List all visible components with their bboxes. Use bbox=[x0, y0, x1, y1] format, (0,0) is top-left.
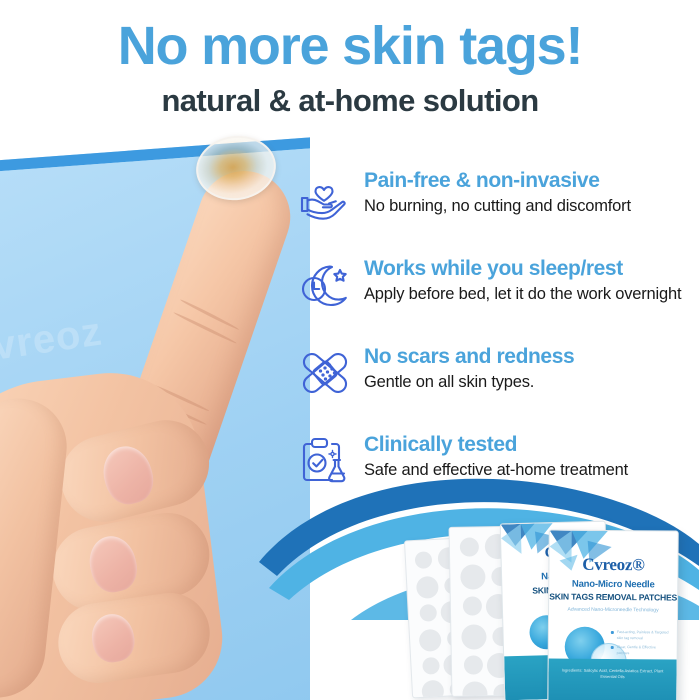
box-product-line: Nano-Micro Needle bbox=[549, 578, 677, 590]
feature-text: Clinically tested Safe and effective at-… bbox=[364, 430, 692, 481]
clipboard-flask-icon bbox=[296, 432, 354, 490]
feature-text: Works while you sleep/rest Apply before … bbox=[364, 254, 692, 305]
box-ingredients-text: Ingredients: Salicylic Acid, Centella As… bbox=[554, 667, 670, 680]
feature-list: Pain-free & non-invasive No burning, no … bbox=[296, 166, 692, 518]
page-title: No more skin tags! bbox=[0, 14, 700, 78]
box-footer-band: Ingredients: Salicylic Acid, Centella As… bbox=[548, 658, 676, 700]
feature-item: Pain-free & non-invasive No burning, no … bbox=[296, 166, 692, 238]
advertisement-page: No more skin tags! natural & at-home sol… bbox=[0, 0, 700, 700]
page-subtitle: natural & at-home solution bbox=[0, 82, 700, 120]
box-bullet: Fast-acting, Painless & Targeted skin ta… bbox=[611, 629, 669, 642]
feature-title: Works while you sleep/rest bbox=[364, 256, 692, 281]
feature-title: No scars and redness bbox=[364, 344, 692, 369]
feature-description: Apply before bed, let it do the work ove… bbox=[364, 284, 692, 305]
box-brand-name: Cvreoz® bbox=[549, 554, 677, 575]
bandage-icon bbox=[296, 344, 354, 402]
hand-illustration bbox=[0, 128, 310, 700]
feature-text: Pain-free & non-invasive No burning, no … bbox=[364, 166, 692, 217]
feature-item: No scars and redness Gentle on all skin … bbox=[296, 342, 692, 414]
feature-title: Pain-free & non-invasive bbox=[364, 168, 692, 193]
product-box-front: Cvreoz® Nano-Micro Needle SKIN TAGS REMO… bbox=[547, 529, 679, 700]
feature-item: Clinically tested Safe and effective at-… bbox=[296, 430, 692, 502]
box-technology-text: Advanced Nano-Microneedle Technology bbox=[549, 606, 677, 614]
hand-heart-icon bbox=[296, 168, 354, 226]
feature-description: Gentle on all skin types. bbox=[364, 372, 692, 393]
feature-description: No burning, no cutting and discomfort bbox=[364, 196, 692, 217]
feature-description: Safe and effective at-home treatment bbox=[364, 460, 692, 481]
moon-clock-icon bbox=[296, 256, 354, 314]
product-package-group: Cv Nano- SKIN TAGS Cvreoz® Nano-Micro Ne… bbox=[398, 512, 700, 700]
box-bullet: Clear, Gentle & Effective patches bbox=[611, 644, 669, 657]
feature-item: Works while you sleep/rest Apply before … bbox=[296, 254, 692, 326]
product-demo-photo: Cvreoz bbox=[0, 128, 310, 700]
feature-title: Clinically tested bbox=[364, 432, 692, 457]
box-product-subtitle: SKIN TAGS REMOVAL PATCHES bbox=[549, 591, 677, 602]
feature-text: No scars and redness Gentle on all skin … bbox=[364, 342, 692, 393]
